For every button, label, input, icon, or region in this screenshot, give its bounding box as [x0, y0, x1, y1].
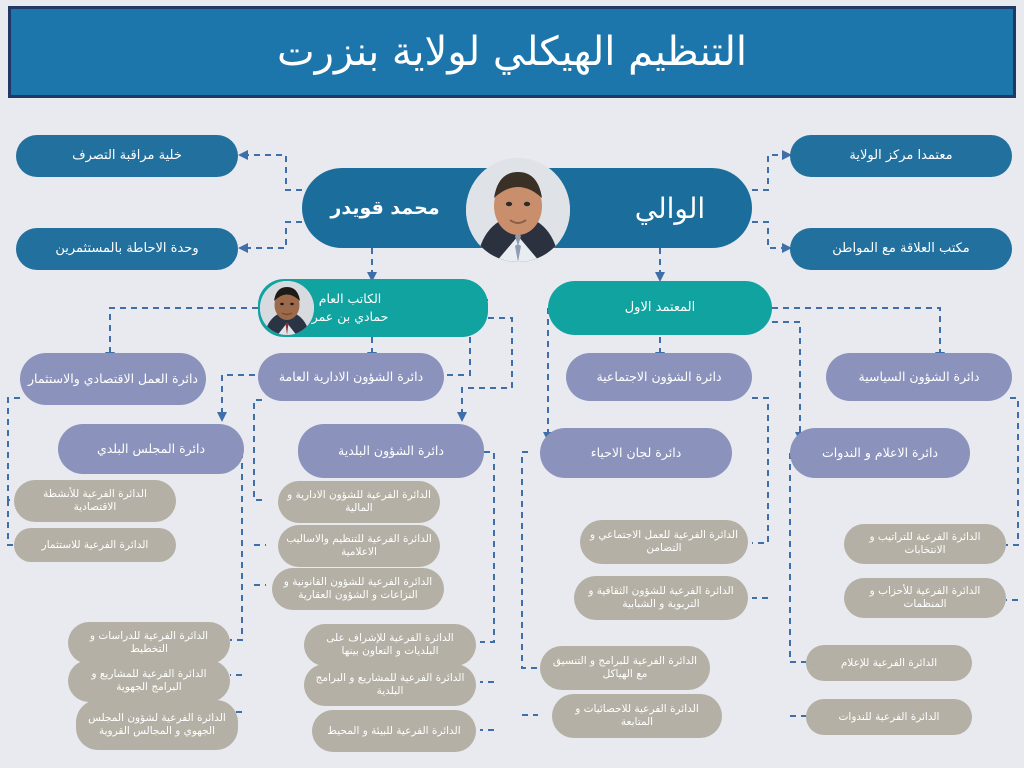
subdept-municipal-projects-and-programs[interactable]: الدائرة الفرعية للمشاريع و البرامج البلد…	[304, 664, 476, 706]
subdept-statistics-and-monitoring[interactable]: الدائرة الفرعية للاحصائيات و المتابعة	[552, 694, 722, 738]
node-label: الدائرة الفرعية للندوات	[814, 711, 964, 724]
subdept-studies-and-planning[interactable]: الدائرة الفرعية للدراسات و التخطيط	[68, 622, 230, 664]
node-label: الدائرة الفرعية للإشراف على البلديات و ا…	[312, 632, 468, 658]
node-first-delegate[interactable]: المعتمد الاول	[548, 281, 772, 335]
node-label: الدائرة الفرعية للعمل الاجتماعي و التضام…	[588, 529, 740, 555]
node-label: الدائرة الفرعية لشؤون المجلس الجهوي و ال…	[84, 712, 230, 738]
node-label: وحدة الاحاطة بالمستثمرين	[24, 241, 230, 257]
subdept-investment[interactable]: الدائرة الفرعية للاستثمار	[14, 528, 176, 562]
node-label: الدائرة الفرعية للمشاريع و البرامج الجهو…	[76, 668, 222, 694]
dept-municipal-affairs[interactable]: دائرة الشؤون البلدية	[298, 424, 484, 478]
subdept-regulations-and-elections[interactable]: الدائرة الفرعية للتراتيب و الانتخابات	[844, 524, 1006, 564]
node-label: دائرة لجان الاحياء	[548, 445, 724, 460]
subdept-organization-and-media-methods[interactable]: الدائرة الفرعية للتنظيم والاساليب الاعلا…	[278, 525, 440, 567]
node-label: الدائرة الفرعية للاحصائيات و المتابعة	[560, 703, 714, 729]
node-investor-support-unit[interactable]: وحدة الاحاطة بالمستثمرين	[16, 228, 238, 270]
node-label: الدائرة الفرعية للاستثمار	[22, 539, 168, 552]
dept-media-and-seminars[interactable]: دائرة الاعلام و الندوات	[790, 428, 970, 478]
subdept-cultural-educational-youth-affairs[interactable]: الدائرة الفرعية للشؤون الثقافية و التربو…	[574, 576, 748, 620]
subdept-environment-and-surroundings[interactable]: الدائرة الفرعية للبيئة و المحيط	[312, 710, 476, 752]
node-label: الدائرة الفرعية للشؤون الادارية و المالي…	[286, 489, 432, 515]
secretary-general-title: الكاتب العام	[319, 290, 382, 308]
node-label: المعتمد الاول	[556, 300, 764, 316]
node-label: دائرة الشؤون الادارية العامة	[266, 369, 436, 384]
node-label: الدائرة الفرعية للمشاريع و البرامج البلد…	[312, 672, 468, 698]
page-title: التنظيم الهيكلي لولاية بنزرت	[277, 30, 747, 74]
node-label: الدائرة الفرعية للبرامج و التنسيق مع اله…	[548, 655, 702, 681]
subdept-municipal-supervision-and-cooperation[interactable]: الدائرة الفرعية للإشراف على البلديات و ا…	[304, 624, 476, 666]
subdept-legal-disputes-and-real-estate-affairs[interactable]: الدائرة الفرعية للشؤون القانونية و النزا…	[272, 568, 444, 610]
node-label: الدائرة الفرعية للإعلام	[814, 657, 964, 670]
subdept-administrative-and-financial-affairs[interactable]: الدائرة الفرعية للشؤون الادارية و المالي…	[278, 481, 440, 523]
node-label: الدائرة الفرعية للأحزاب و المنظمات	[852, 585, 998, 611]
node-citizen-relations-office[interactable]: مكتب العلاقة مع المواطن	[790, 228, 1012, 270]
dept-political-affairs[interactable]: دائرة الشؤون السياسية	[826, 353, 1012, 401]
subdept-programs-and-structures-coordination[interactable]: الدائرة الفرعية للبرامج و التنسيق مع اله…	[540, 646, 710, 690]
governor-title: الوالي	[590, 168, 750, 248]
node-label: دائرة المجلس البلدي	[66, 441, 236, 456]
subdept-economic-activities[interactable]: الدائرة الفرعية للأنشطة الاقتصادية	[14, 480, 176, 522]
node-label: دائرة العمل الاقتصادي والاستثمار	[28, 371, 198, 386]
node-label: مكتب العلاقة مع المواطن	[798, 241, 1004, 257]
dept-social-affairs[interactable]: دائرة الشؤون الاجتماعية	[566, 353, 752, 401]
node-label: معتمدا مركز الولاية	[798, 148, 1004, 164]
subdept-regional-projects-and-programs[interactable]: الدائرة الفرعية للمشاريع و البرامج الجهو…	[68, 660, 230, 702]
node-label: الدائرة الفرعية للدراسات و التخطيط	[76, 630, 222, 656]
node-label: دائرة الشؤون الاجتماعية	[574, 369, 744, 384]
dept-economic-action-and-investment[interactable]: دائرة العمل الاقتصادي والاستثمار	[20, 353, 206, 405]
secretary-general-portrait-photo	[260, 281, 314, 335]
node-label: خلية مراقبة التصرف	[24, 148, 230, 164]
dept-municipal-council[interactable]: دائرة المجلس البلدي	[58, 424, 244, 474]
node-label: الدائرة الفرعية للشؤون الثقافية و التربو…	[582, 585, 740, 611]
governor-portrait-photo	[466, 158, 570, 262]
subdept-regional-and-rural-council-affairs[interactable]: الدائرة الفرعية لشؤون المجلس الجهوي و ال…	[76, 700, 238, 750]
subdept-media[interactable]: الدائرة الفرعية للإعلام	[806, 645, 972, 681]
governor-name: محمد قويدر	[310, 168, 460, 248]
node-label: الدائرة الفرعية للتنظيم والاساليب الاعلا…	[286, 533, 432, 559]
node-label: الدائرة الفرعية للتراتيب و الانتخابات	[852, 531, 998, 557]
org-chart-canvas: التنظيم الهيكلي لولاية بنزرت	[0, 0, 1024, 768]
subdept-social-work-and-solidarity[interactable]: الدائرة الفرعية للعمل الاجتماعي و التضام…	[580, 520, 748, 564]
secretary-general-name: حمادي بن عمر	[312, 308, 389, 326]
node-management-control-cell[interactable]: خلية مراقبة التصرف	[16, 135, 238, 177]
node-label: الدائرة الفرعية للبيئة و المحيط	[320, 725, 468, 738]
subdept-seminars[interactable]: الدائرة الفرعية للندوات	[806, 699, 972, 735]
subdept-parties-and-organizations[interactable]: الدائرة الفرعية للأحزاب و المنظمات	[844, 578, 1006, 618]
node-label: الدائرة الفرعية للأنشطة الاقتصادية	[22, 488, 168, 514]
node-delegate-governorate-center[interactable]: معتمدا مركز الولاية	[790, 135, 1012, 177]
node-label: دائرة الشؤون السياسية	[834, 369, 1004, 384]
node-label: دائرة الشؤون البلدية	[306, 443, 476, 458]
dept-general-administrative-affairs[interactable]: دائرة الشؤون الادارية العامة	[258, 353, 444, 401]
page-title-banner: التنظيم الهيكلي لولاية بنزرت	[8, 6, 1016, 98]
node-label: الدائرة الفرعية للشؤون القانونية و النزا…	[280, 576, 436, 602]
dept-neighborhood-committees[interactable]: دائرة لجان الاحياء	[540, 428, 732, 478]
node-label: دائرة الاعلام و الندوات	[798, 445, 962, 460]
